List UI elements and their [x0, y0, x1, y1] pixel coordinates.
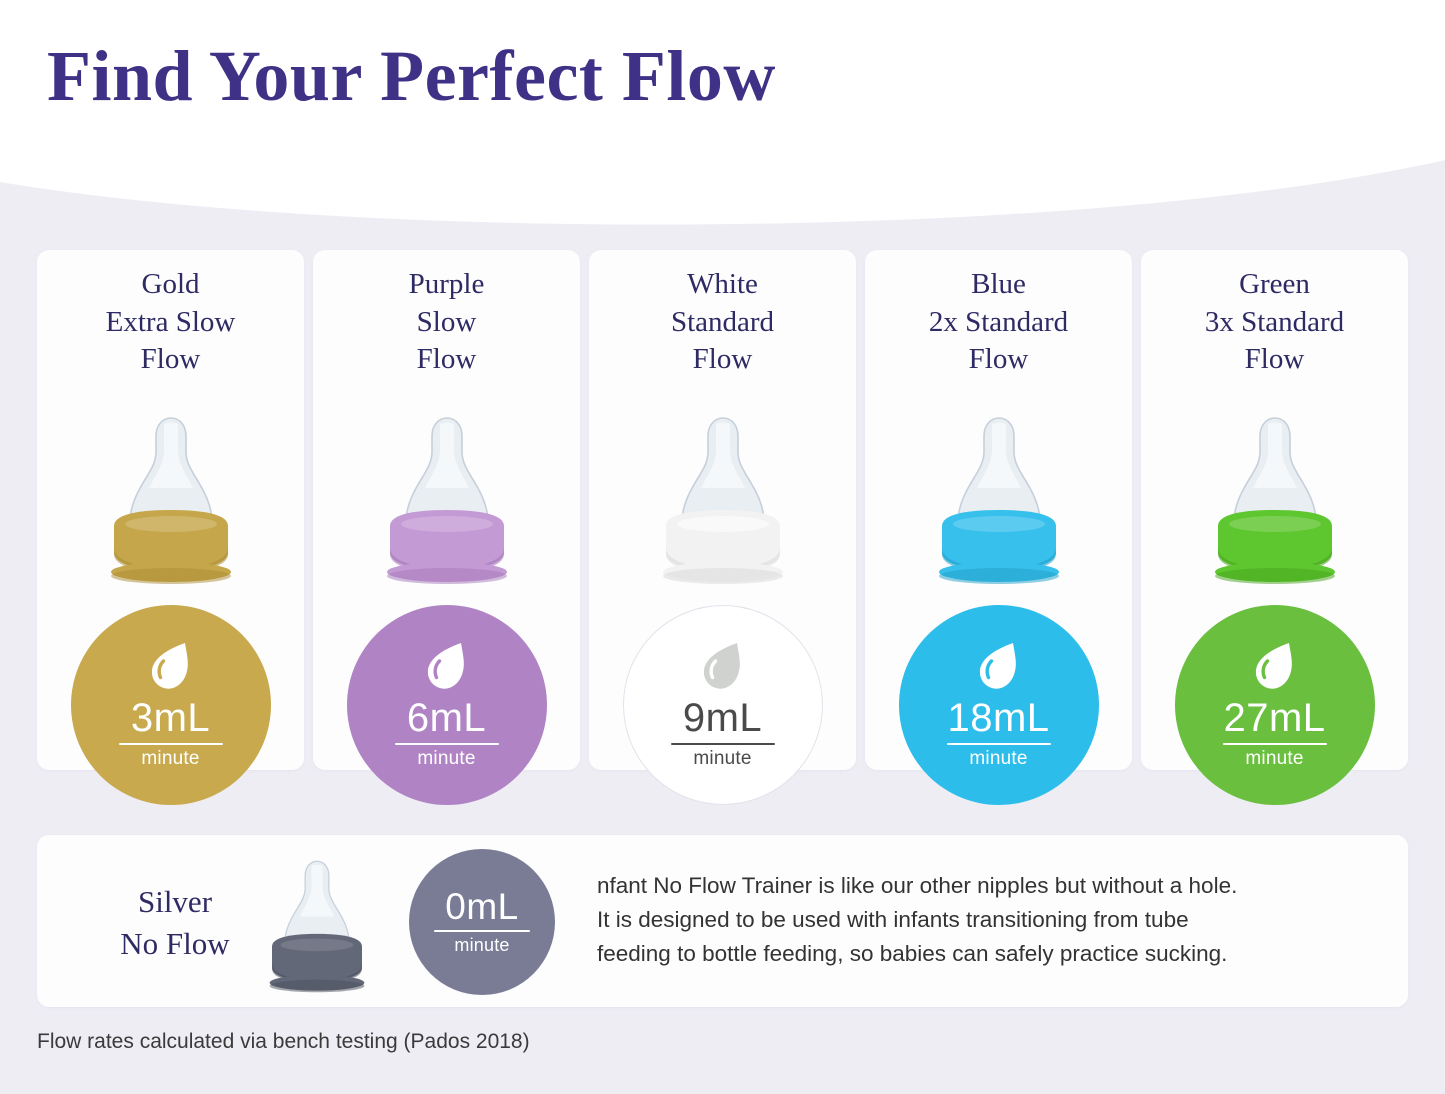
rate-unit: minute [947, 748, 1051, 770]
page-title: Find Your Perfect Flow [47, 40, 776, 112]
rate-divider [671, 743, 775, 745]
flow-rate-badge: 6mL minute [347, 605, 547, 805]
rate-value: 0mL [434, 888, 530, 927]
rate-divider [947, 743, 1051, 745]
rate-unit: minute [395, 748, 499, 770]
flow-card-title: White Standard Flow [589, 266, 856, 379]
rate-value: 9mL [671, 697, 775, 739]
water-drop-icon [425, 641, 469, 691]
flow-rate-badge: 18mL minute [899, 605, 1099, 805]
flow-card-blue[interactable]: Blue 2x Standard Flow [865, 250, 1132, 770]
bottle-nipple-icon [352, 400, 542, 590]
rate-divider [395, 743, 499, 745]
bottle-nipple-icon [242, 847, 392, 997]
infographic-page: Find Your Perfect Flow Gold Extra Slow F… [0, 0, 1445, 1094]
rate-unit: minute [119, 748, 223, 770]
rate-fraction: 9mL minute [671, 697, 775, 770]
rate-unit: minute [434, 935, 530, 956]
rate-fraction: 6mL minute [395, 697, 499, 770]
flow-card-purple[interactable]: Purple Slow Flow [313, 250, 580, 770]
water-drop-icon [977, 641, 1021, 691]
water-drop-icon [149, 641, 193, 691]
flow-rate-badge-no-flow: 0mL minute [409, 849, 555, 995]
bottle-nipple-icon [1180, 400, 1370, 590]
rate-unit: minute [671, 748, 775, 770]
bottle-nipple-icon [904, 400, 1094, 590]
rate-divider [1223, 743, 1327, 745]
rate-value: 27mL [1223, 697, 1327, 739]
flow-card-title: Blue 2x Standard Flow [865, 266, 1132, 379]
rate-fraction: 3mL minute [119, 697, 223, 770]
rate-value: 3mL [119, 697, 223, 739]
rate-divider [119, 743, 223, 745]
flow-card-green[interactable]: Green 3x Standard Flow [1141, 250, 1408, 770]
rate-divider [434, 930, 530, 932]
bottle-nipple-icon [628, 400, 818, 590]
flow-card-gold[interactable]: Gold Extra Slow Flow [37, 250, 304, 770]
bottle-nipple-icon [76, 400, 266, 590]
rate-value: 6mL [395, 697, 499, 739]
flow-card-title: Green 3x Standard Flow [1141, 266, 1408, 379]
rate-fraction: 18mL minute [947, 697, 1051, 770]
flow-rate-badge: 9mL minute [623, 605, 823, 805]
footnote: Flow rates calculated via bench testing … [37, 1030, 530, 1054]
water-drop-icon [1253, 641, 1297, 691]
flow-card-title: Purple Slow Flow [313, 266, 580, 379]
rate-fraction: 27mL minute [1223, 697, 1327, 770]
description-line: It is designed to be used with infants t… [597, 903, 1378, 937]
no-flow-panel[interactable]: Silver No Flow 0mL minute [37, 835, 1408, 1007]
flow-rate-badge: 27mL minute [1175, 605, 1375, 805]
flow-card-title: Gold Extra Slow Flow [37, 266, 304, 379]
description-line: feeding to bottle feeding, so babies can… [597, 937, 1378, 971]
rate-fraction: 0mL minute [434, 888, 530, 957]
no-flow-description: nfant No Flow Trainer is like our other … [597, 869, 1378, 972]
flow-rate-badge: 3mL minute [71, 605, 271, 805]
flow-card-white[interactable]: White Standard Flow [589, 250, 856, 770]
rate-unit: minute [1223, 748, 1327, 770]
flow-card-row: Gold Extra Slow Flow [37, 250, 1408, 770]
description-line: nfant No Flow Trainer is like our other … [597, 869, 1378, 903]
water-drop-icon [701, 641, 745, 691]
rate-value: 18mL [947, 697, 1051, 739]
